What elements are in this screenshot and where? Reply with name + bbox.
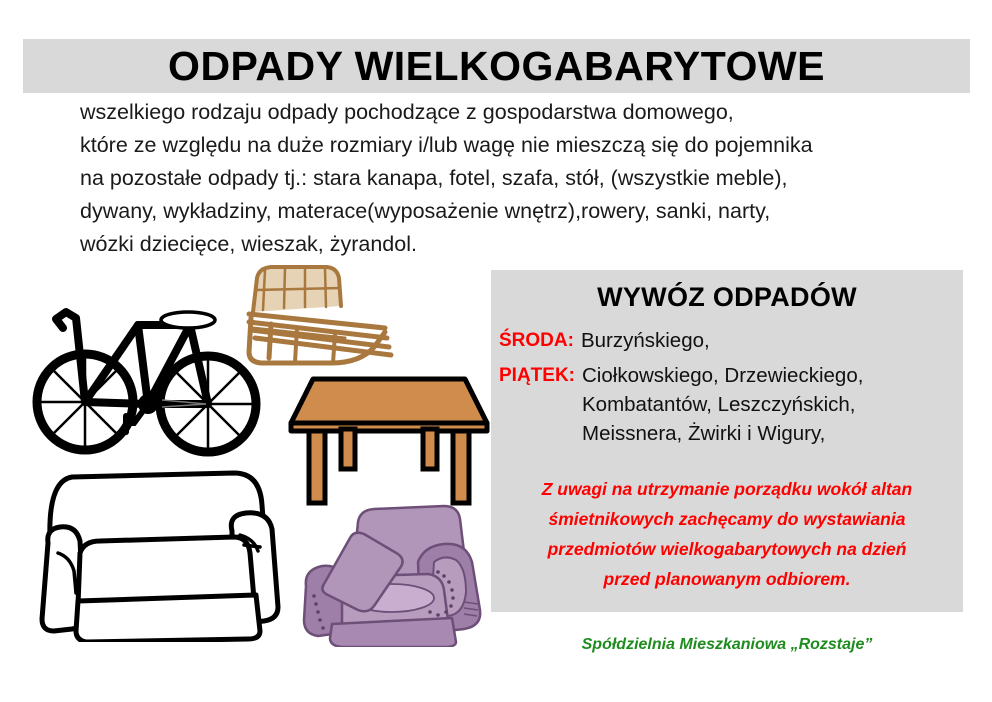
street-line: Burzyńskiego,	[581, 326, 710, 355]
intro-line-4: dywany, wykładziny, materace(wyposażenie…	[80, 195, 918, 228]
day-label-piatek: PIĄTEK:	[499, 361, 582, 390]
sled-icon	[235, 262, 460, 372]
table-icon	[275, 367, 500, 507]
page-title: ODPADY WIELKOGABARYTOWE	[23, 39, 970, 93]
notice-line: śmietnikowych zachęcamy do wystawiania	[507, 504, 947, 534]
notice-line: Z uwagi na utrzymanie porządku wokół alt…	[507, 474, 947, 504]
footer-organization: Spółdzielnia Mieszkaniowa „Rozstaje”	[491, 636, 963, 654]
notice-line: przed planowanym odbiorem.	[507, 564, 947, 594]
sofa-icon	[28, 467, 283, 642]
collection-schedule: ŚRODA: Burzyńskiego, PIĄTEK: Ciołkowskie…	[499, 326, 955, 454]
armchair-icon	[292, 502, 507, 647]
street-line: Kombatantów, Leszczyńskich,	[582, 390, 863, 419]
street-list-piatek: Ciołkowskiego, Drzewieckiego, Kombatantó…	[582, 361, 863, 448]
notice-text: Z uwagi na utrzymanie porządku wokół alt…	[507, 474, 947, 594]
collection-info-panel: WYWÓZ ODPADÓW ŚRODA: Burzyńskiego, PIĄTE…	[491, 270, 963, 612]
poster-page: ODPADY WIELKOGABARYTOWE wszelkiego rodza…	[0, 0, 992, 702]
illustration-group	[20, 262, 490, 662]
bicycle-icon	[30, 292, 270, 467]
street-list-sroda: Burzyńskiego,	[581, 326, 710, 355]
notice-line: przedmiotów wielkogabarytowych na dzień	[507, 534, 947, 564]
day-label-sroda: ŚRODA:	[499, 326, 581, 355]
schedule-row-piatek: PIĄTEK: Ciołkowskiego, Drzewieckiego, Ko…	[499, 361, 955, 448]
intro-line-3: na pozostałe odpady tj.: stara kanapa, f…	[80, 162, 918, 195]
panel-title: WYWÓZ ODPADÓW	[491, 282, 963, 313]
intro-line-5: wózki dziecięce, wieszak, żyrandol.	[80, 228, 918, 261]
schedule-row-sroda: ŚRODA: Burzyńskiego,	[499, 326, 955, 355]
street-line: Ciołkowskiego, Drzewieckiego,	[582, 361, 863, 390]
intro-line-1: wszelkiego rodzaju odpady pochodzące z g…	[80, 96, 918, 129]
intro-paragraph: wszelkiego rodzaju odpady pochodzące z g…	[80, 96, 918, 261]
street-line: Meissnera, Żwirki i Wigury,	[582, 419, 863, 448]
intro-line-2: które ze względu na duże rozmiary i/lub …	[80, 129, 918, 162]
